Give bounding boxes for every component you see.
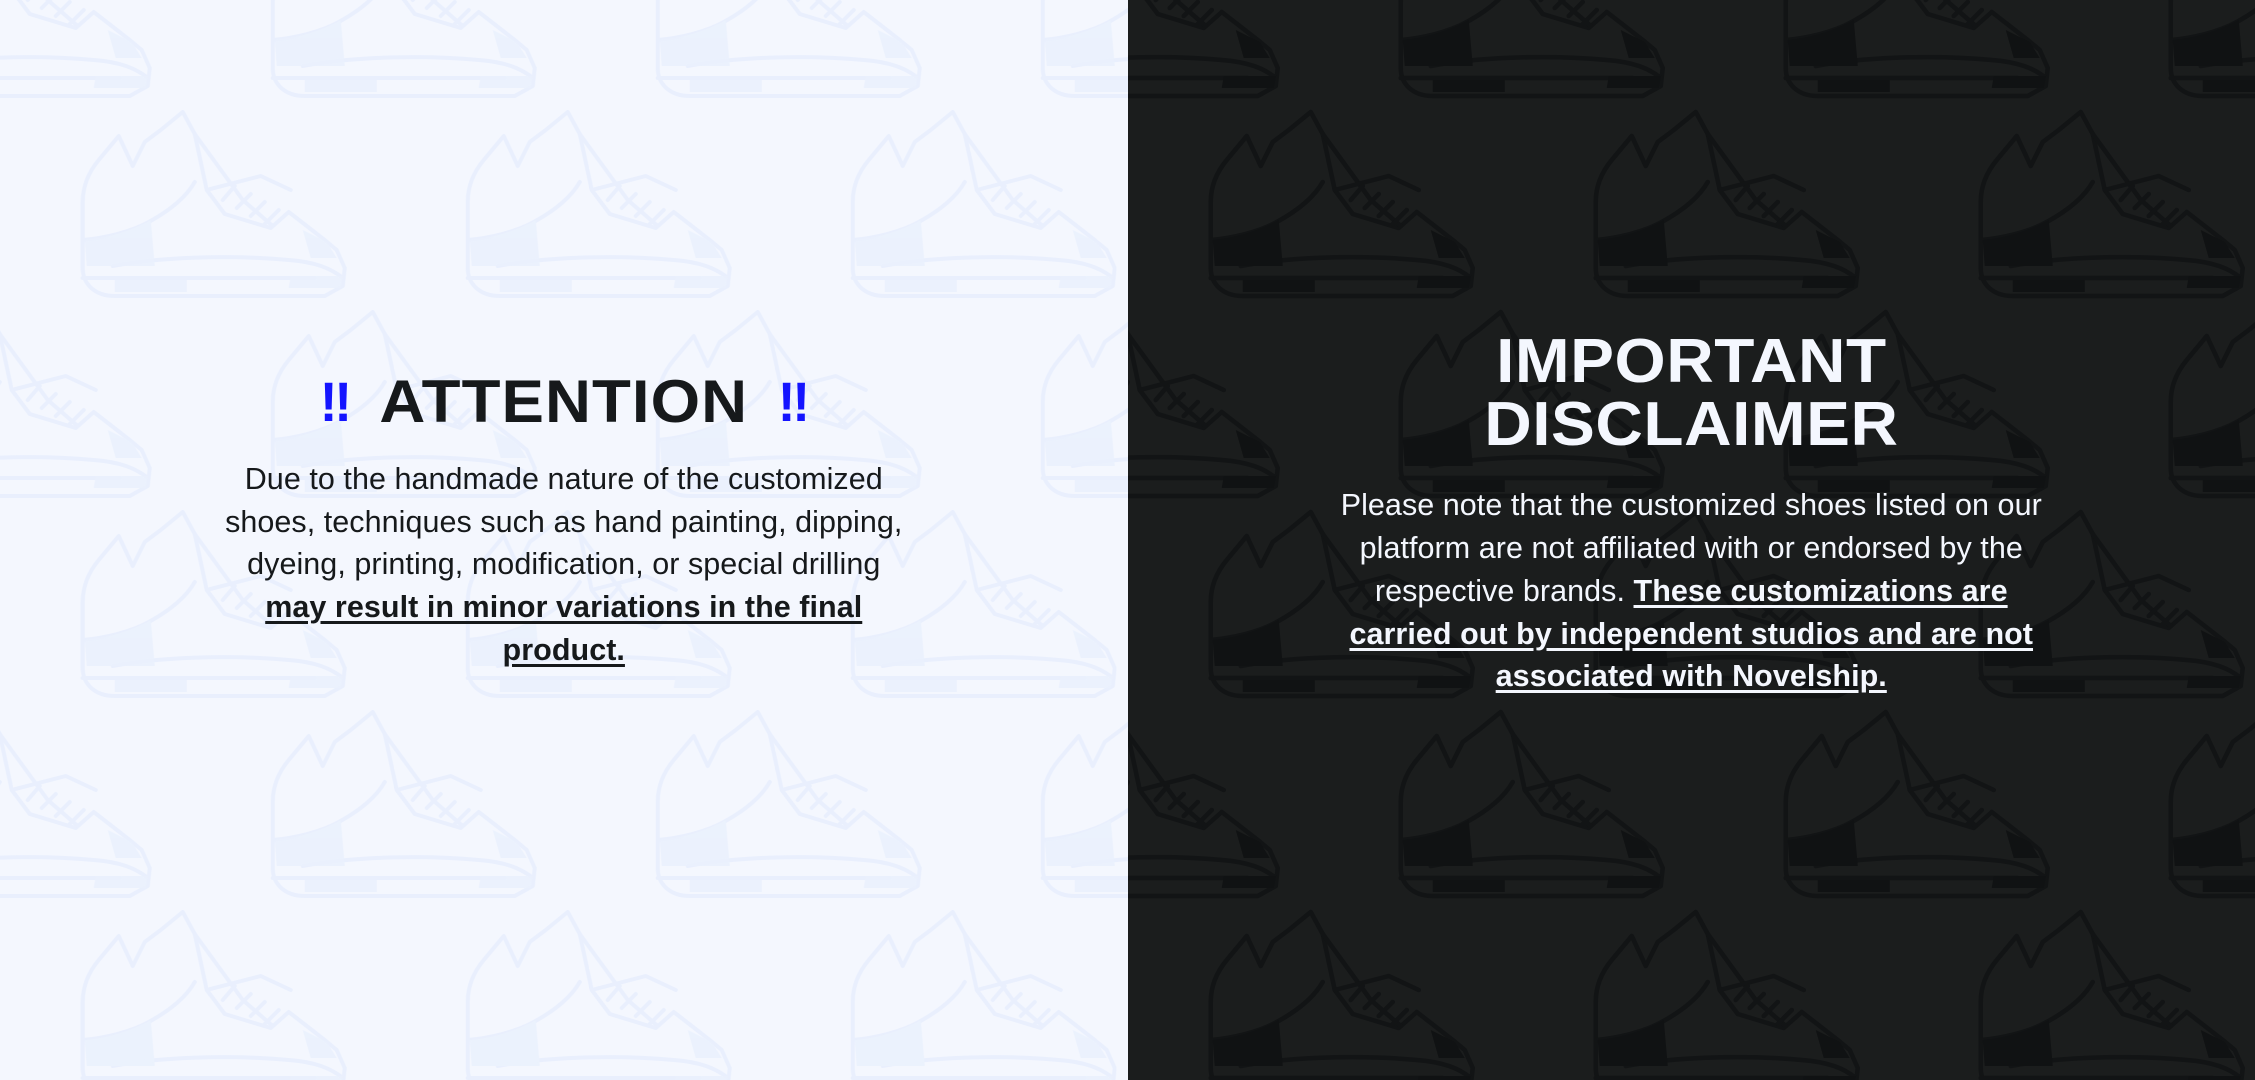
- attention-content: ‼ ATTENTION ‼ Due to the handmade nature…: [0, 0, 1128, 671]
- double-exclamation-mark-icon-left: ‼: [320, 374, 350, 430]
- disclaimer-heading: IMPORTANT DISCLAIMER: [1484, 330, 1898, 456]
- disclaimer-panel: IMPORTANT DISCLAIMER Please note that th…: [1128, 0, 2255, 1080]
- disclaimer-heading-line-2: DISCLAIMER: [1484, 393, 1898, 456]
- disclaimer-body: Please note that the customized shoes li…: [1339, 484, 2044, 697]
- attention-heading: ‼ ATTENTION ‼: [318, 372, 809, 432]
- attention-panel: ‼ ATTENTION ‼ Due to the handmade nature…: [0, 0, 1128, 1080]
- attention-body-emphasis: may result in minor variations in the fi…: [265, 590, 862, 667]
- customization-notice-banner: ‼ ATTENTION ‼ Due to the handmade nature…: [0, 0, 2255, 1080]
- attention-body: Due to the handmade nature of the custom…: [214, 458, 914, 671]
- double-exclamation-mark-icon-right: ‼: [777, 374, 807, 430]
- attention-heading-text: ATTENTION: [379, 372, 748, 432]
- attention-body-plain: Due to the handmade nature of the custom…: [225, 462, 902, 581]
- disclaimer-content: IMPORTANT DISCLAIMER Please note that th…: [1128, 0, 2255, 698]
- disclaimer-heading-line-1: IMPORTANT: [1484, 330, 1898, 393]
